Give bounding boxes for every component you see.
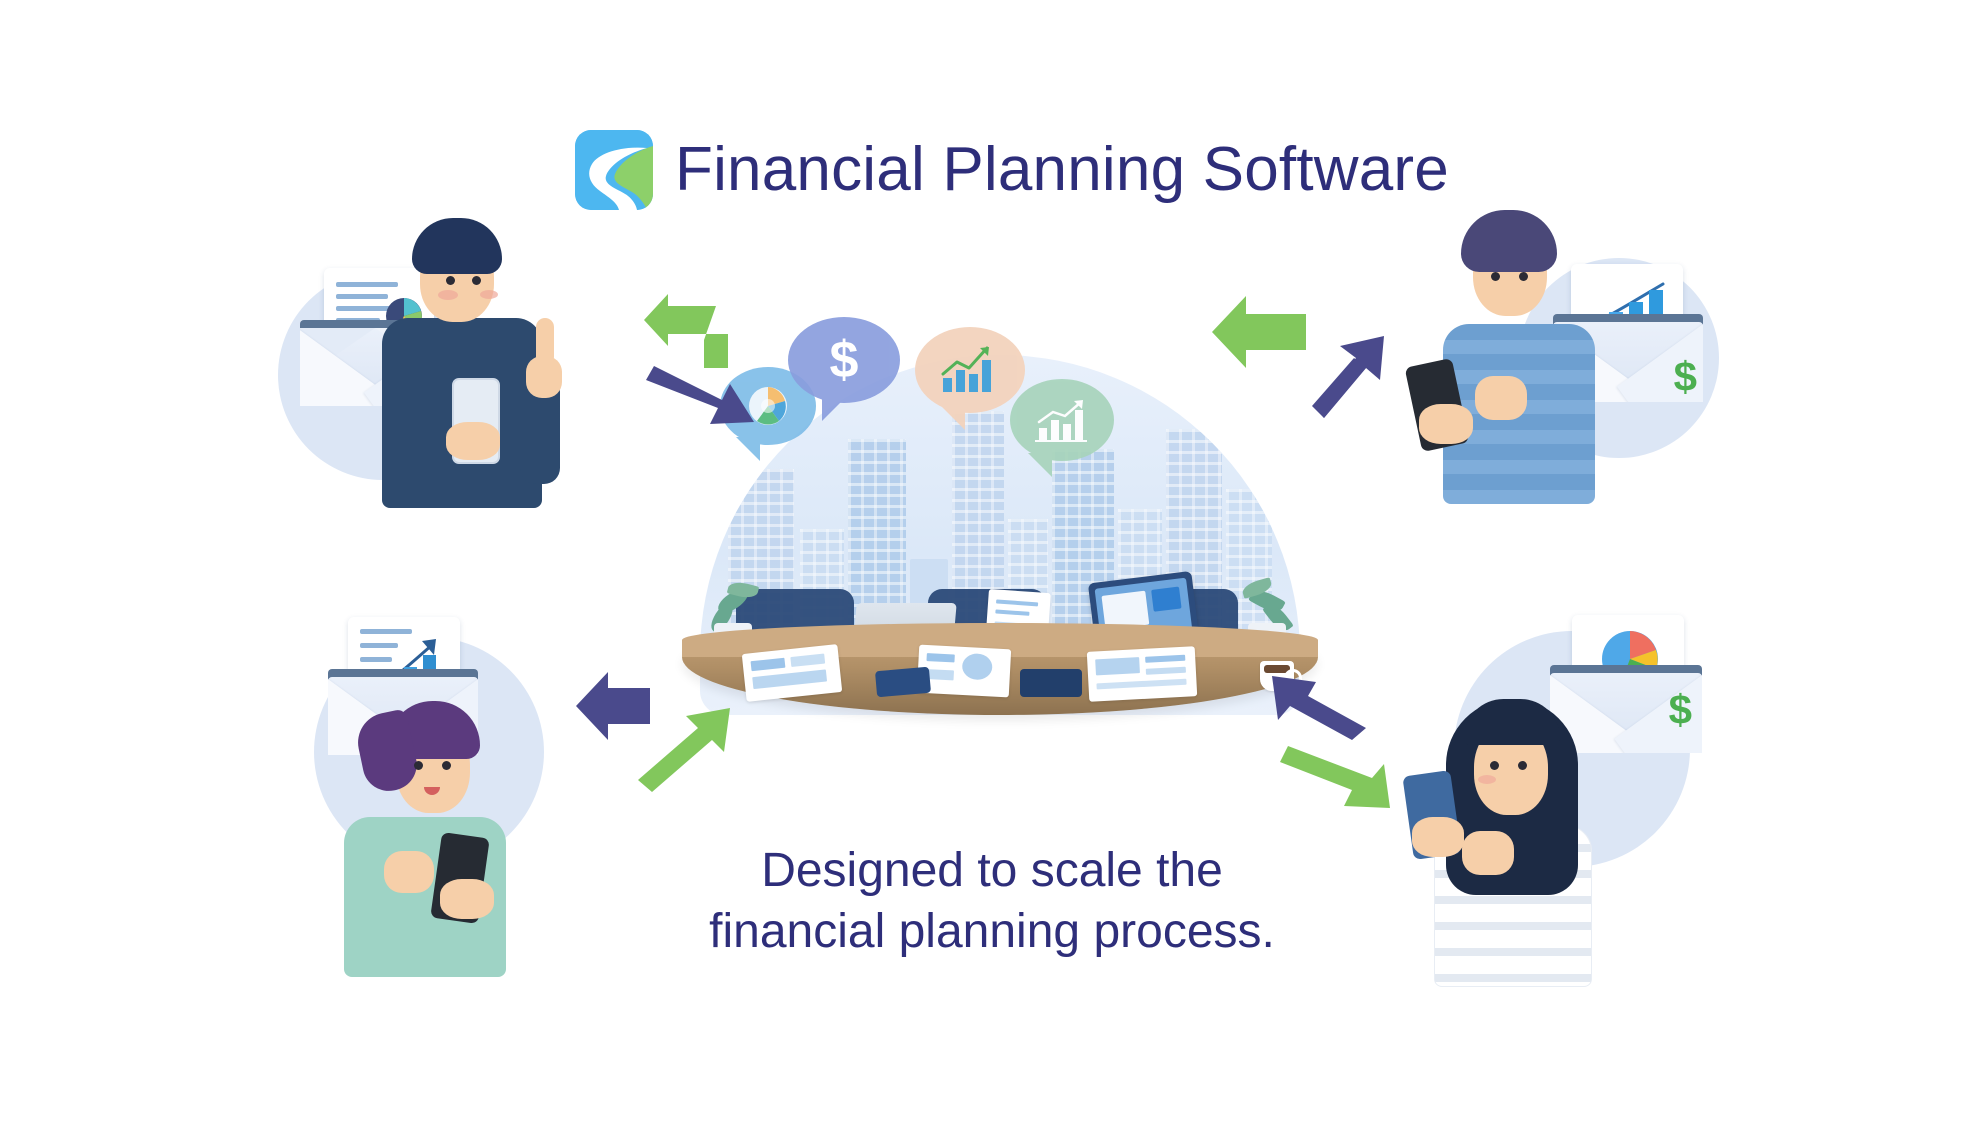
desk-paper-right (1087, 646, 1197, 702)
bubble-bar-chart (1010, 379, 1114, 461)
app-logo-icon (575, 130, 653, 210)
tagline-line-2: financial planning process. (0, 901, 1984, 962)
bidirectional-arrows-top-right (1206, 288, 1386, 438)
desk-paper-center (917, 645, 1011, 698)
page-title: Financial Planning Software (675, 139, 1449, 201)
envelope-with-pie-chart: $ (1550, 615, 1702, 757)
poster-canvas: Financial Planning Software (0, 0, 1984, 1133)
bubble-growth-chart (915, 327, 1025, 413)
user-node-top-left (270, 200, 610, 500)
dollar-sign-icon: $ (1669, 689, 1692, 731)
brand-header: Financial Planning Software (575, 130, 1449, 210)
calculator-on-desk (1020, 669, 1082, 697)
user-node-top-right: $ (1395, 190, 1735, 500)
dollar-sign-icon: $ (1674, 356, 1697, 398)
bidirectional-arrows-top-left (636, 288, 816, 438)
desk-paper-left (742, 644, 842, 702)
tagline-line-1: Designed to scale the (0, 840, 1984, 901)
phone-on-desk (875, 667, 931, 698)
tagline: Designed to scale the financial planning… (0, 840, 1984, 963)
